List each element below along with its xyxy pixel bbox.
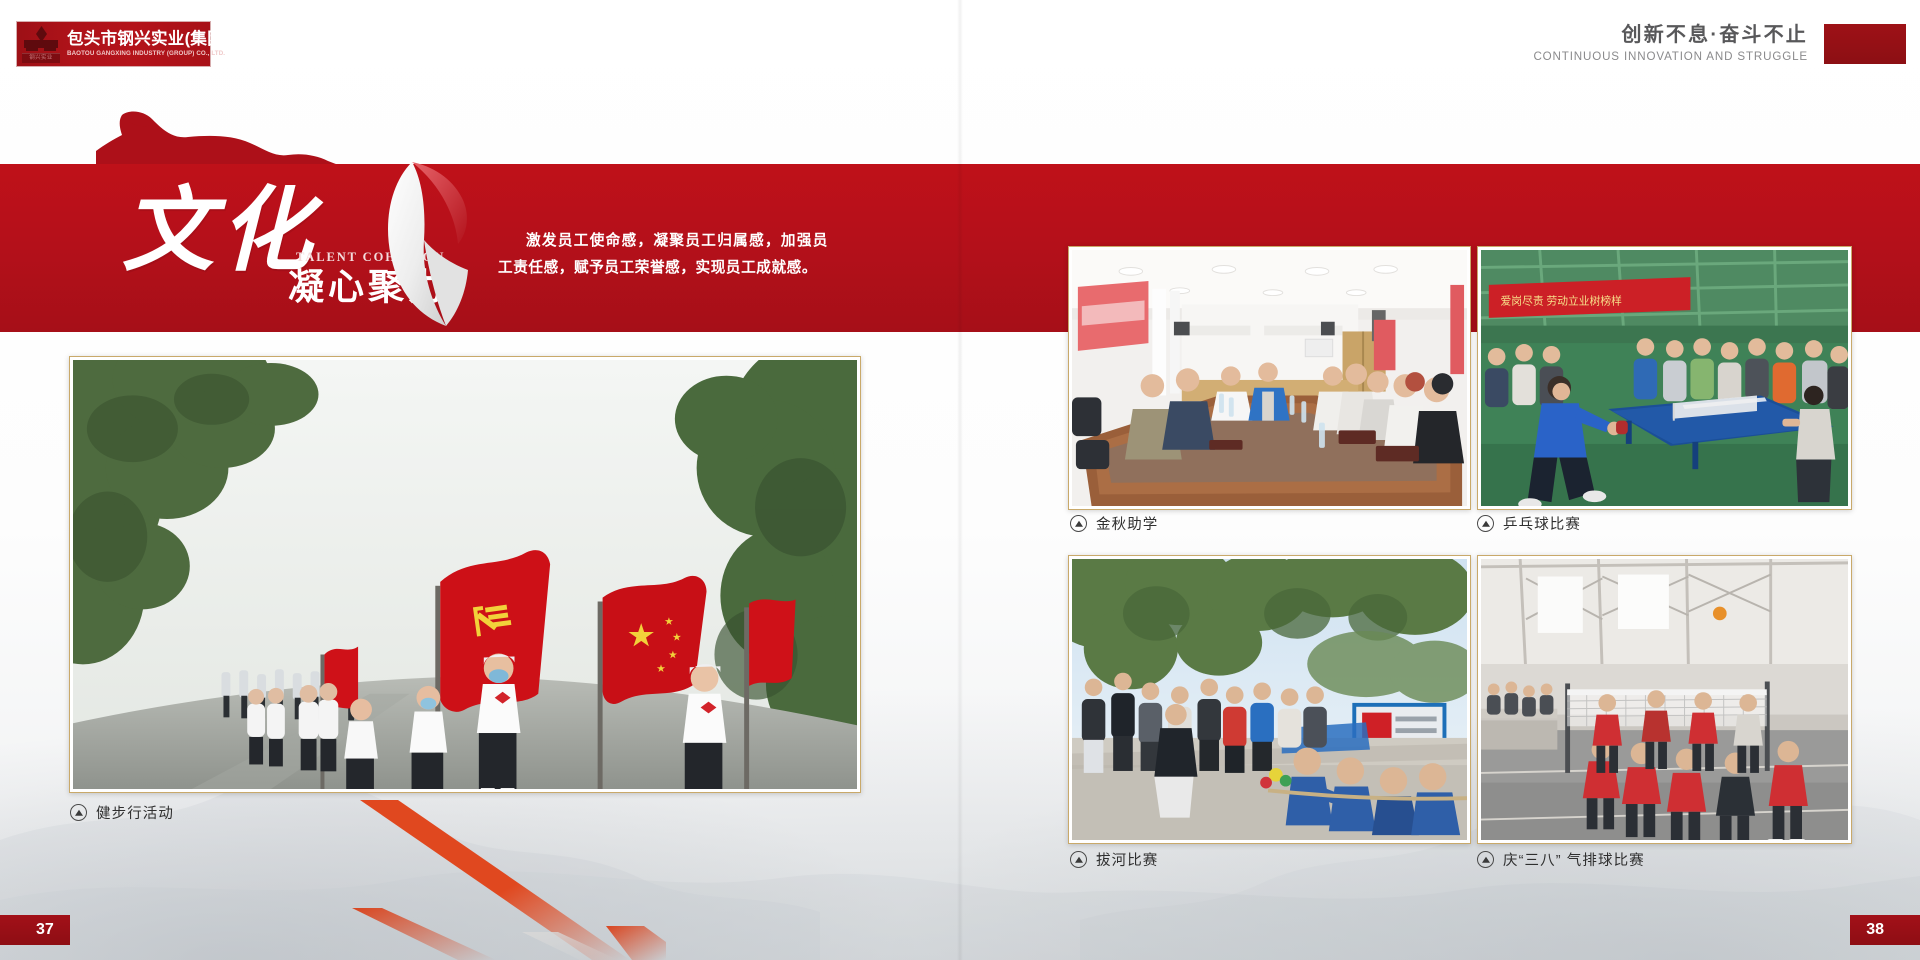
page-number-right: 38 xyxy=(1850,915,1920,945)
caption-marker-icon xyxy=(1477,515,1494,532)
caption-table-tennis-match: 乒乓球比赛 xyxy=(1477,513,1581,534)
logo-company-cn: 包头市钢兴实业(集团)有限公司 xyxy=(67,30,297,49)
svg-text:爱岗尽责 劳动立业树榜样: 爱岗尽责 劳动立业树榜样 xyxy=(1501,294,1623,307)
brush-stroke-decoration xyxy=(92,105,352,167)
photo-golden-autumn-scholarship[interactable] xyxy=(1068,246,1471,510)
logo-company-en: BAOTOU GANGXING INDUSTRY (GROUP) CO., LT… xyxy=(67,49,297,58)
magazine-spread: 钢兴实业 包头市钢兴实业(集团)有限公司 BAOTOU GANGXING IND… xyxy=(0,0,1920,960)
caption-marker-icon xyxy=(70,804,87,821)
slogan-en: CONTINUOUS INNOVATION AND STRUGGLE xyxy=(1533,48,1808,66)
header-slogan: 创新不息·奋斗不止 CONTINUOUS INNOVATION AND STRU… xyxy=(1533,22,1808,66)
logo-plate-text: 钢兴实业 xyxy=(21,54,61,62)
photo-table-tennis-match[interactable]: 爱岗尽责 劳动立业树榜样 xyxy=(1477,246,1852,510)
logo-mark-icon: 钢兴实业 xyxy=(21,25,61,63)
caption-text: 健步行活动 xyxy=(96,802,174,823)
caption-marker-icon xyxy=(1070,851,1087,868)
photo-tug-of-war-match[interactable] xyxy=(1068,555,1471,844)
banner-paragraph: 激发员工使命感，凝聚员工归属感，加强员工责任感，赋予员工荣誉感，实现员工成就感。 xyxy=(498,228,828,282)
caption-marker-icon xyxy=(1070,515,1087,532)
caption-womens-day-volleyball: 庆“三八” 气排球比赛 xyxy=(1477,849,1645,870)
caption-text: 乒乓球比赛 xyxy=(1503,513,1581,534)
caption-text: 金秋助学 xyxy=(1096,513,1158,534)
caption-golden-autumn-scholarship: 金秋助学 xyxy=(1070,513,1158,534)
photo-womens-day-volleyball[interactable] xyxy=(1477,555,1852,844)
caption-text: 庆“三八” 气排球比赛 xyxy=(1503,849,1645,870)
company-logo: 钢兴实业 包头市钢兴实业(集团)有限公司 BAOTOU GANGXING IND… xyxy=(17,22,210,66)
caption-walking-activity: 健步行活动 xyxy=(70,802,174,823)
photo-walking-activity[interactable] xyxy=(69,356,861,793)
caption-marker-icon xyxy=(1477,851,1494,868)
page-number-left: 37 xyxy=(0,915,70,945)
slogan-cn: 创新不息·奋斗不止 xyxy=(1533,22,1808,48)
caption-text: 拔河比赛 xyxy=(1096,849,1158,870)
spread-gutter xyxy=(957,0,963,960)
header-color-swatch xyxy=(1824,24,1906,64)
diagonal-stripe-decoration xyxy=(270,790,710,960)
ribbon-decoration xyxy=(372,160,482,330)
caption-tug-of-war-match: 拔河比赛 xyxy=(1070,849,1158,870)
